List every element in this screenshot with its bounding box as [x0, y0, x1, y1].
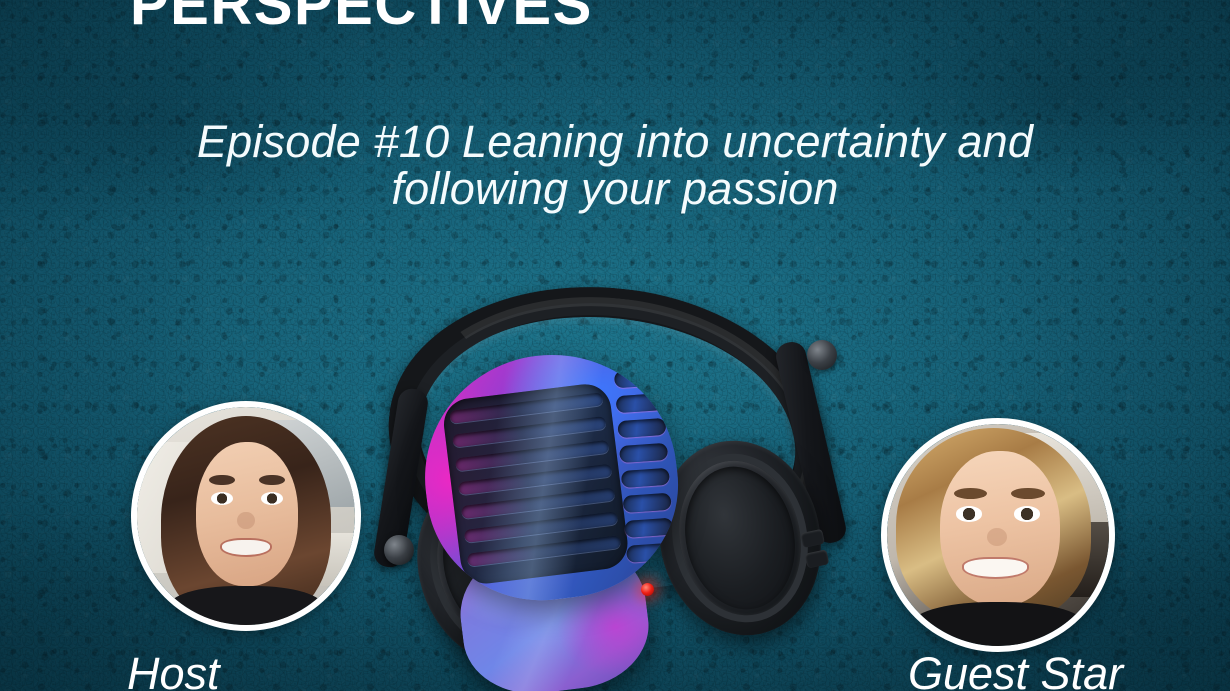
episode-title-line-1: Episode #10 Leaning into uncertainty and	[197, 116, 1033, 167]
side-vent	[623, 493, 672, 513]
earcup-button-lower	[805, 549, 830, 568]
headphone-hinge-right	[807, 340, 837, 370]
side-vent	[616, 393, 665, 413]
portrait-eye-right	[261, 492, 283, 505]
guest-avatar-image	[887, 424, 1109, 646]
earcup-button-upper	[800, 529, 825, 548]
portrait-eye-left	[956, 506, 983, 522]
portrait-eye-right	[1014, 506, 1041, 522]
side-vent	[626, 543, 675, 563]
guest-role-label: Guest Star	[908, 651, 1123, 691]
portrait-nose	[987, 528, 1007, 546]
portrait-shirt	[168, 586, 325, 625]
side-vent	[617, 418, 666, 438]
host-avatar-image	[137, 407, 355, 625]
microphone-icon	[425, 355, 725, 691]
side-vent	[624, 518, 673, 538]
side-vent	[614, 368, 663, 388]
microphone-led-indicator	[641, 583, 654, 596]
portrait-shirt	[909, 602, 1087, 646]
episode-title-line-2: following your passion	[0, 166, 1230, 211]
portrait-eye-left	[211, 492, 233, 505]
host-avatar	[131, 401, 361, 631]
podcast-cover-slide: PERSPECTIVES Episode #10 Leaning into un…	[0, 0, 1230, 691]
microphone-grille	[441, 381, 630, 586]
portrait-nose	[237, 512, 254, 529]
microphone-head	[411, 341, 691, 614]
headphone-hinge-left	[384, 535, 414, 565]
guest-avatar	[881, 418, 1115, 652]
host-role-label: Host	[127, 651, 220, 691]
show-title: PERSPECTIVES	[130, 0, 593, 34]
side-vent	[621, 468, 670, 488]
side-vent	[619, 443, 668, 463]
episode-title: Episode #10 Leaning into uncertainty and…	[0, 119, 1230, 211]
